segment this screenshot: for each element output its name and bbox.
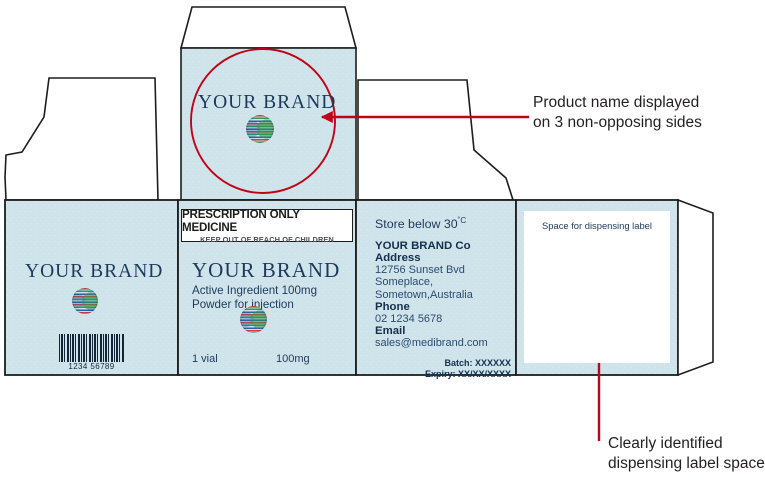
annotation-product-name: Product name displayed on 3 non-opposing…	[533, 93, 702, 133]
address-text: 12756 Sunset Bvd Someplace, Sometown,Aus…	[375, 264, 515, 301]
left-panel-brand: YOUR BRAND	[25, 261, 163, 283]
storage-text: Store below 30	[375, 217, 458, 231]
top-tuck-flap	[181, 7, 356, 48]
annotation-dispensing-space: Clearly identified dispensing label spac…	[608, 434, 765, 474]
warning-primary-text: PRESCRIPTION ONLY MEDICINE	[182, 208, 352, 234]
globe-logo-icon	[246, 115, 274, 143]
company-name: YOUR BRAND Co	[375, 240, 515, 252]
company-info-block: Store below 30˚C YOUR BRAND Co Address 1…	[375, 216, 515, 380]
address-label: Address	[375, 252, 515, 264]
storage-unit: ˚C	[458, 216, 466, 225]
dispensing-label-text: Space for dispensing label	[524, 220, 670, 231]
warning-secondary-text: KEEP OUT OF REACH OF CHILDREN	[200, 235, 334, 244]
carton-dieline-diagram: YOUR BRAND YOUR BRAND 1234 56789 PRESCRI…	[0, 0, 765, 482]
strength-text: 100mg	[276, 353, 310, 365]
phone-number: 02 1234 5678	[375, 313, 515, 325]
email-label: Email	[375, 325, 515, 337]
right-tuck-flap	[358, 80, 513, 200]
barcode-digits: 1234 56789	[59, 362, 124, 371]
glue-flap	[678, 200, 713, 375]
email-address: sales@medibrand.com	[375, 337, 515, 349]
front-panel-brand: YOUR BRAND	[192, 258, 340, 283]
globe-logo-icon	[240, 306, 267, 333]
globe-logo-icon	[72, 288, 98, 314]
storage-condition-text: Store below 30˚C	[375, 216, 515, 231]
pack-count-text: 1 vial	[192, 353, 218, 365]
phone-label: Phone	[375, 301, 515, 313]
top-panel-brand: YOUR BRAND	[198, 92, 336, 114]
dispensing-label-area	[524, 211, 670, 363]
prescription-warning-box: PRESCRIPTION ONLY MEDICINE KEEP OUT OF R…	[181, 209, 353, 242]
left-tuck-flap	[5, 78, 158, 200]
barcode-icon	[59, 334, 124, 364]
batch-expiry-text: Batch: XXXXXX Expiry: XX/XX/XXXX	[375, 358, 515, 380]
